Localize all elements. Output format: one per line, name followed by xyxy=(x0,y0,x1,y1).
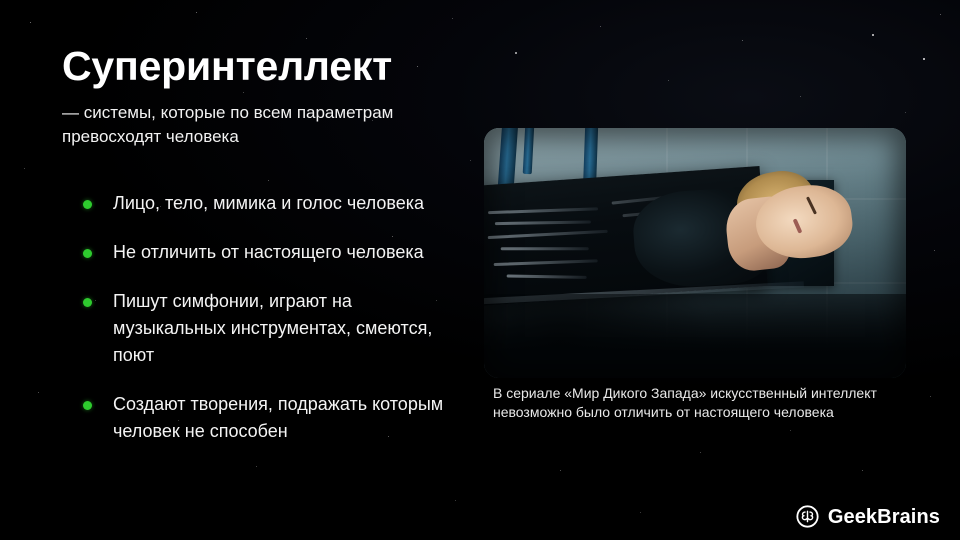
presentation-slide: Суперинтеллект — системы, которые по все… xyxy=(0,0,960,540)
bullet-marker-icon xyxy=(83,249,92,258)
logo-text: GeekBrains xyxy=(828,507,940,527)
bullet-marker-icon xyxy=(83,298,92,307)
photo-vignette xyxy=(484,128,906,378)
geekbrains-logo: GeekBrains xyxy=(796,505,940,528)
bullet-marker-icon xyxy=(83,401,92,410)
illustration-photo xyxy=(484,128,906,378)
list-item-label: Не отличить от настоящего человека xyxy=(113,242,424,262)
list-item-label: Пишут симфонии, играют на музыкальных ин… xyxy=(113,291,432,365)
bullet-list: Лицо, тело, мимика и голос человека Не о… xyxy=(78,190,458,445)
bullet-marker-icon xyxy=(83,200,92,209)
photo-caption: В сериале «Мир Дикого Запада» искусствен… xyxy=(493,384,893,422)
list-item: Пишут симфонии, играют на музыкальных ин… xyxy=(78,288,458,369)
slide-subtitle: — системы, которые по всем параметрам пр… xyxy=(62,101,462,149)
brain-icon xyxy=(796,505,819,528)
list-item: Создают творения, подражать которым чело… xyxy=(78,391,458,445)
list-item-label: Создают творения, подражать которым чело… xyxy=(113,394,443,441)
list-item: Не отличить от настоящего человека xyxy=(78,239,458,266)
slide-title: Суперинтеллект xyxy=(62,44,392,88)
list-item: Лицо, тело, мимика и голос человека xyxy=(78,190,458,217)
list-item-label: Лицо, тело, мимика и голос человека xyxy=(113,193,424,213)
